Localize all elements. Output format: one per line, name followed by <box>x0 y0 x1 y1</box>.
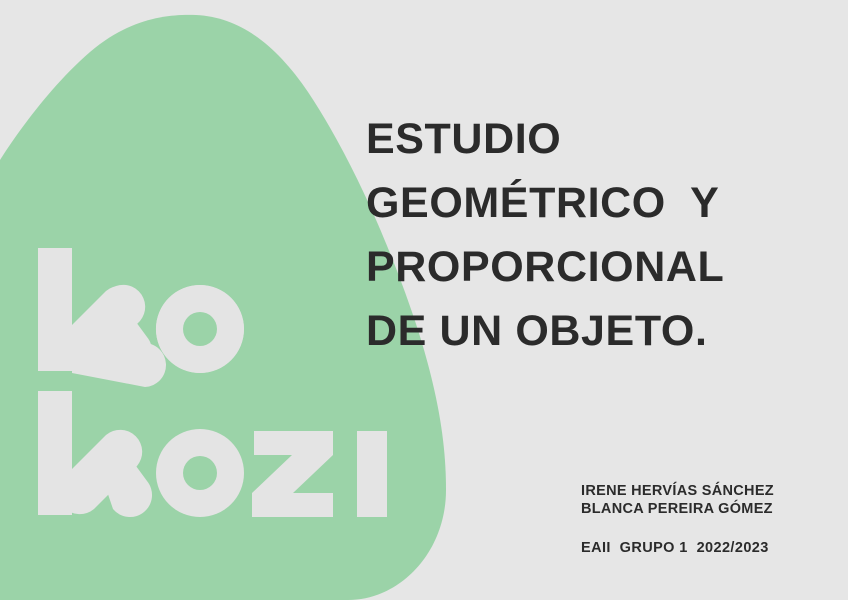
author-name-2: BLANCA PEREIRA GÓMEZ <box>581 500 821 518</box>
credits: IRENE HERVÍAS SÁNCHEZ BLANCA PEREIRA GÓM… <box>581 482 821 557</box>
title-line-4: DE UN OBJETO. <box>366 299 806 363</box>
title-slide: ESTUDIO GEOMÉTRICO Y PROPORCIONAL DE UN … <box>0 0 848 600</box>
page-title: ESTUDIO GEOMÉTRICO Y PROPORCIONAL DE UN … <box>366 107 806 363</box>
title-line-2: GEOMÉTRICO Y <box>366 171 806 235</box>
kokozi-logo <box>30 243 400 533</box>
title-line-3: PROPORCIONAL <box>366 235 806 299</box>
author-name-1: IRENE HERVÍAS SÁNCHEZ <box>581 482 821 500</box>
title-line-1: ESTUDIO <box>366 107 806 171</box>
course-info: EAII GRUPO 1 2022/2023 <box>581 518 821 557</box>
